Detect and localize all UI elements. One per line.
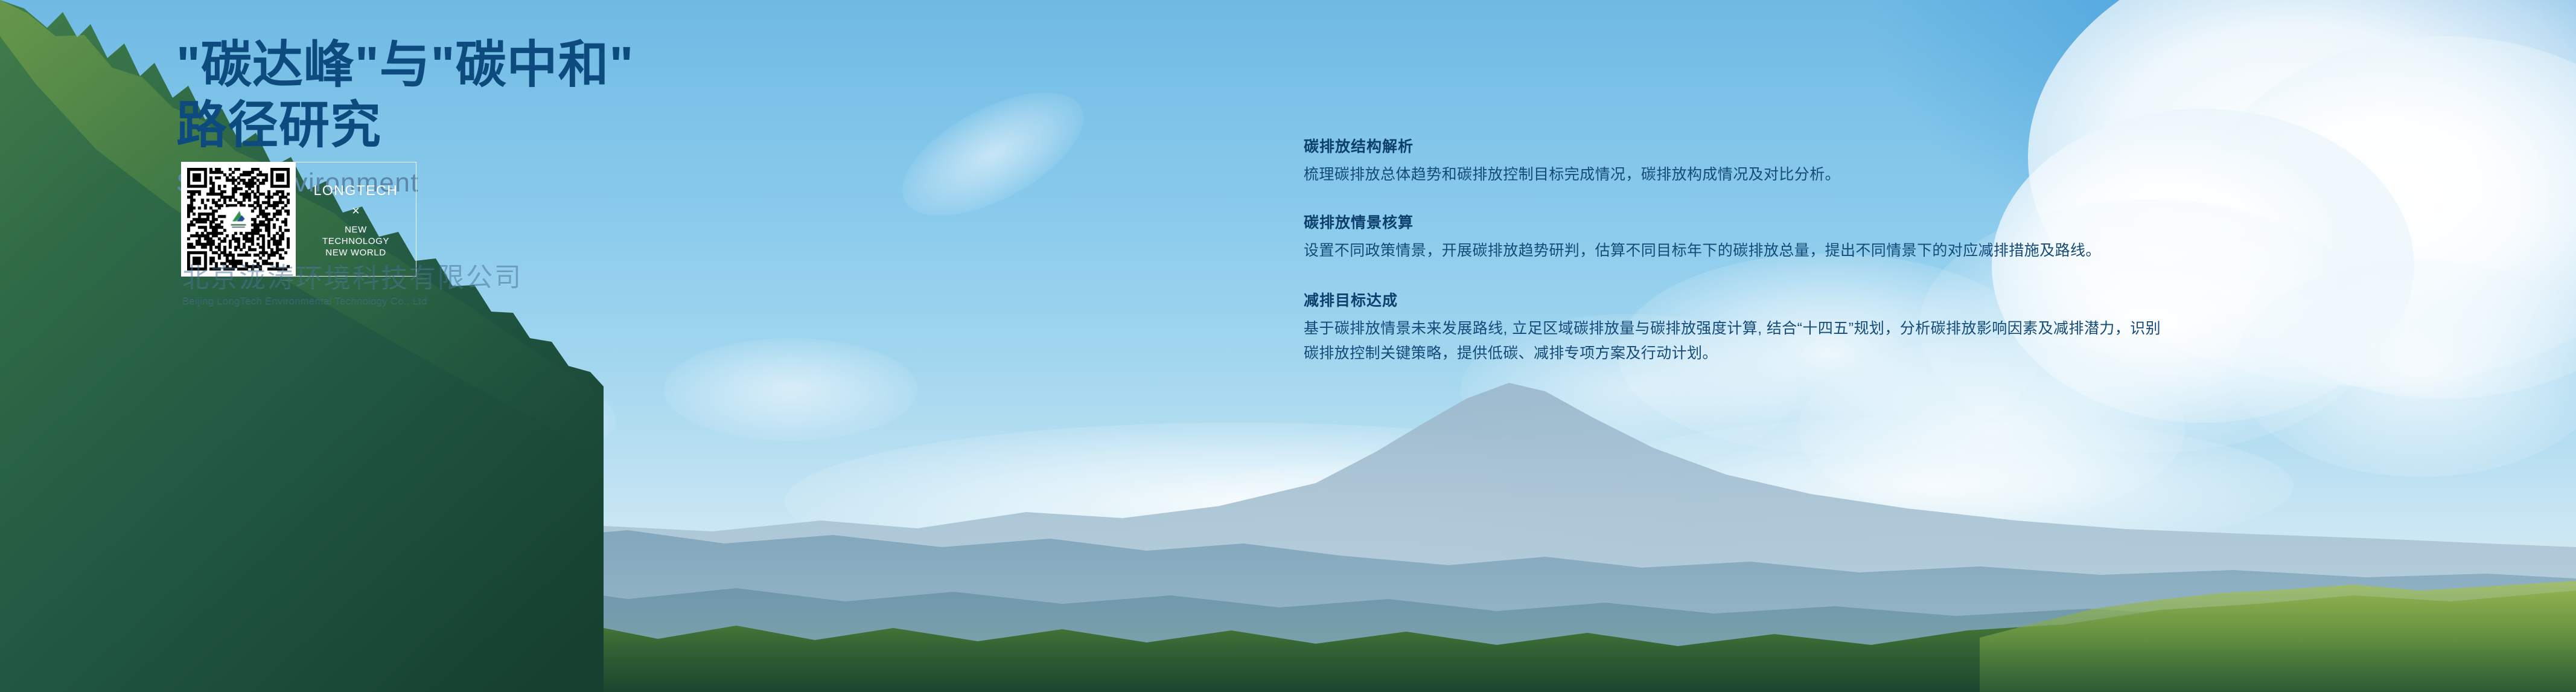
- hero-banner: "碳达峰"与"碳中和" 路径研究 Smart Environment LONGT…: [0, 0, 2576, 692]
- qr-code-canvas[interactable]: [187, 168, 290, 271]
- brand-tagline: NEW TECHNOLOGY NEW WORLD: [322, 224, 389, 259]
- section-carbon-structure: 碳排放结构解析 梳理碳排放总体趋势和碳排放控制目标完成情况，碳排放构成情况及对比…: [1304, 138, 2161, 187]
- page-title-line-1: "碳达峰"与"碳中和": [176, 36, 635, 93]
- section-heading: 碳排放情景核算: [1304, 214, 2161, 232]
- qr-code[interactable]: [181, 162, 296, 277]
- brand-name: LONGTECH: [314, 184, 398, 197]
- section-reduction-target: 减排目标达成 基于碳排放情景未来发展路线, 立足区域碳排放量与碳排放强度计算, …: [1304, 292, 2161, 365]
- feature-sections: 碳排放结构解析 梳理碳排放总体趋势和碳排放控制目标完成情况，碳排放构成情况及对比…: [1304, 138, 2161, 365]
- section-heading: 减排目标达成: [1304, 292, 2161, 310]
- brand-qr-card[interactable]: LONGTECH ✕ NEW TECHNOLOGY NEW WORLD: [181, 162, 416, 277]
- section-scenario-accounting: 碳排放情景核算 设置不同政策情景，开展碳排放趋势研判，估算不同目标年下的碳排放总…: [1304, 214, 2161, 263]
- brand-tagline-line-2: TECHNOLOGY: [322, 235, 389, 247]
- section-body: 基于碳排放情景未来发展路线, 立足区域碳排放量与碳排放强度计算, 结合“十四五”…: [1304, 316, 2161, 365]
- brand-panel: LONGTECH ✕ NEW TECHNOLOGY NEW WORLD: [296, 162, 416, 277]
- section-body: 设置不同政策情景，开展碳排放趋势研判，估算不同目标年下的碳排放总量，提出不同情景…: [1304, 239, 2161, 263]
- brand-tagline-line-3: NEW WORLD: [322, 247, 389, 258]
- brand-tagline-line-1: NEW: [322, 224, 389, 235]
- section-heading: 碳排放结构解析: [1304, 138, 2161, 156]
- page-title-line-2: 路径研究: [176, 97, 635, 153]
- section-body: 梳理碳排放总体趋势和碳排放控制目标完成情况，碳排放构成情况及对比分析。: [1304, 162, 2161, 187]
- brand-separator-icon: ✕: [351, 205, 360, 217]
